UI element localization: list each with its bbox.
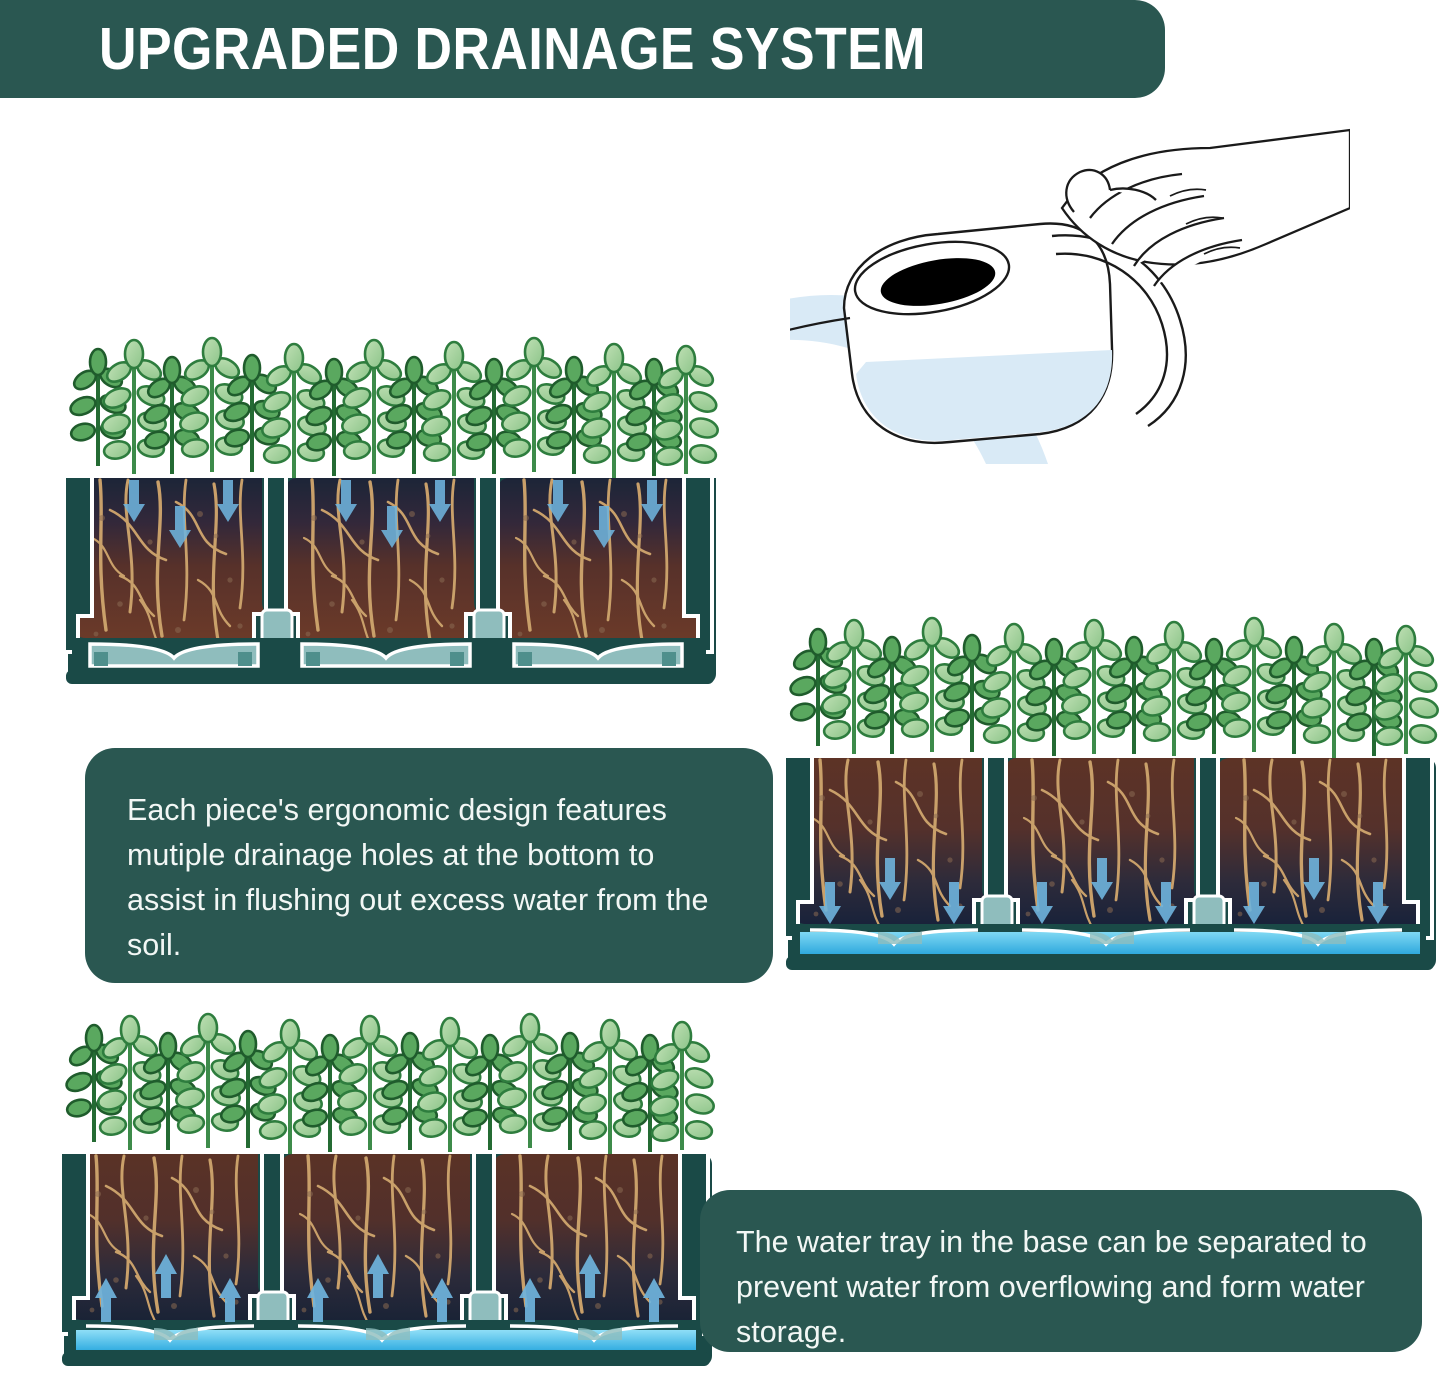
- water-tray: [786, 924, 1434, 970]
- plant-foliage: [68, 338, 720, 480]
- plant-foliage: [64, 1014, 716, 1156]
- soil-cells: [74, 478, 698, 655]
- caption-box-drainage-holes: Each piece's ergonomic design features m…: [85, 748, 773, 983]
- water-tray: [66, 638, 714, 684]
- page-title: UPGRADED DRAINAGE SYSTEM: [0, 15, 926, 83]
- planter-top-left: [62, 352, 722, 692]
- can-water-fill: [856, 350, 1112, 441]
- watering-can-illustration: [790, 112, 1350, 502]
- planter-bottom-left: [58, 1028, 718, 1378]
- soil-cells: [794, 758, 1418, 935]
- soil-cells: [70, 1154, 694, 1331]
- planter-middle-right: [782, 632, 1442, 982]
- caption-text: Each piece's ergonomic design features m…: [127, 788, 739, 969]
- water-tray: [62, 1320, 710, 1366]
- plant-foliage: [788, 618, 1440, 760]
- caption-box-water-tray: The water tray in the base can be separa…: [700, 1190, 1422, 1352]
- caption-text: The water tray in the base can be separa…: [736, 1220, 1396, 1355]
- header-banner: UPGRADED DRAINAGE SYSTEM: [0, 0, 1165, 98]
